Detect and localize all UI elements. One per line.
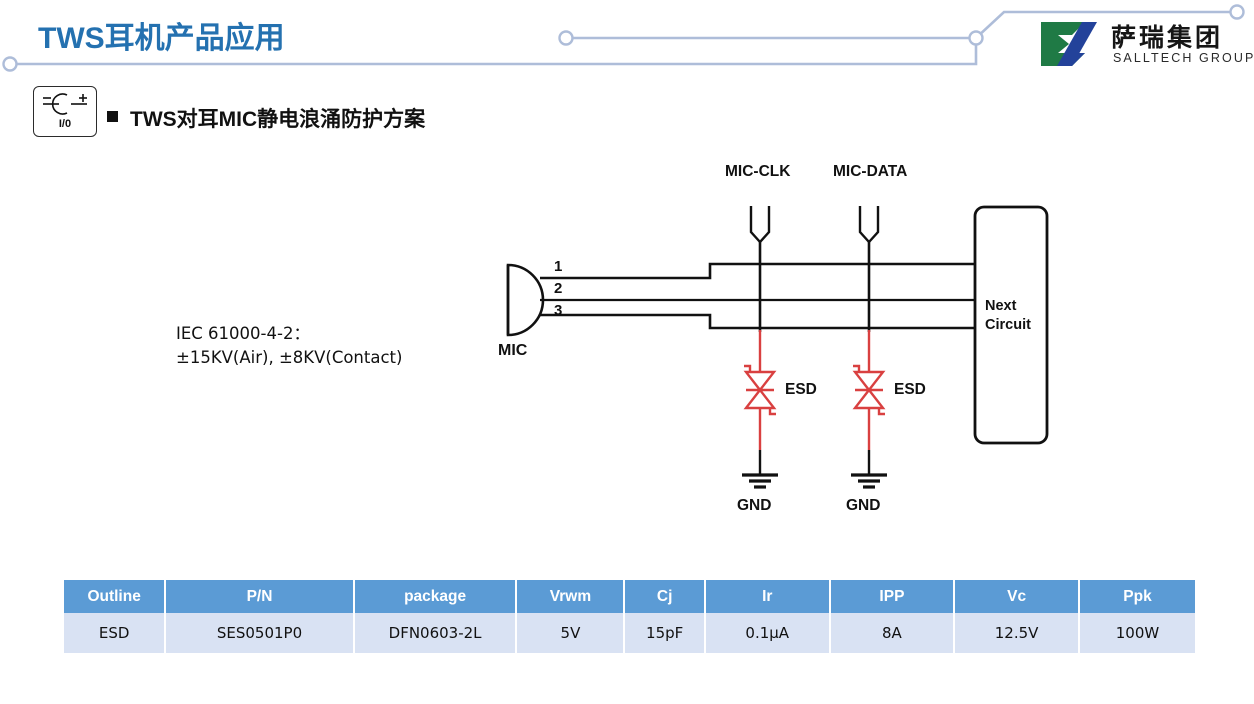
- iec-note-line2: ±15KV(Air), ±8KV(Contact): [176, 346, 402, 370]
- section-heading: TWS对耳MIC静电浪涌防护方案: [130, 103, 425, 133]
- net-label-mic-data: MIC-DATA: [833, 163, 907, 181]
- spec-header-outline: Outline: [64, 580, 164, 613]
- mic-label: MIC: [498, 342, 527, 360]
- next-circuit-label-line2: Circuit: [985, 317, 1031, 333]
- spec-cell-p-n: SES0501P0: [166, 613, 352, 653]
- esd-label-1: ESD: [785, 381, 817, 399]
- mic-pin-3-label: 3: [554, 302, 562, 319]
- terminal-mic-clk-icon: [751, 206, 769, 242]
- spec-cell-ppk: 100W: [1080, 613, 1195, 653]
- spec-cell-cj: 15pF: [625, 613, 703, 653]
- deco-node-mid: [560, 32, 573, 45]
- deco-node-left: [4, 58, 17, 71]
- deco-node-right: [1231, 6, 1244, 19]
- spec-header-ir: Ir: [706, 580, 829, 613]
- spec-cell-vc: 12.5V: [955, 613, 1078, 653]
- spec-header-package: package: [355, 580, 516, 613]
- deco-node-junction: [970, 32, 983, 45]
- esd-diode-2-icon: [853, 366, 885, 414]
- logo-name-en: SALLTECH GROUP: [1113, 51, 1254, 65]
- company-logo: 萨瑞集团 SALLTECH GROUP: [1039, 18, 1251, 76]
- spec-cell-vrwm: 5V: [517, 613, 623, 653]
- spec-cell-ipp: 8A: [831, 613, 954, 653]
- spec-header-ppk: Ppk: [1080, 580, 1195, 613]
- terminal-mic-data-icon: [860, 206, 878, 242]
- slide-canvas: TWS耳机产品应用 萨瑞集团 SALLTECH GROUP I/0 TWS对耳M…: [0, 0, 1254, 704]
- spec-cell-package: DFN0603-2L: [355, 613, 516, 653]
- spec-header-vrwm: Vrwm: [517, 580, 623, 613]
- gnd-symbol-2-icon: [851, 475, 887, 487]
- next-circuit-label-line1: Next: [985, 298, 1016, 314]
- schematic-diagram: MIC 1 2 3 MIC-CLK MIC-DATA ESD ESD GND G…: [480, 150, 1100, 540]
- io-symbol-icon: [34, 87, 96, 121]
- spec-cell-ir: 0.1μA: [706, 613, 829, 653]
- spec-header-p-n: P/N: [166, 580, 352, 613]
- bullet-square-icon: [107, 111, 118, 122]
- spec-table: OutlineP/NpackageVrwmCjIrIPPVcPpk ESDSES…: [62, 580, 1197, 653]
- spec-header-cj: Cj: [625, 580, 703, 613]
- mic-symbol-icon: [508, 265, 543, 335]
- spec-header-ipp: IPP: [831, 580, 954, 613]
- spec-table-head: OutlineP/NpackageVrwmCjIrIPPVcPpk: [64, 580, 1195, 613]
- mic-pin-2-label: 2: [554, 280, 562, 297]
- schematic-svg: [480, 150, 1100, 540]
- spec-table-header-row: OutlineP/NpackageVrwmCjIrIPPVcPpk: [64, 580, 1195, 613]
- table-row: ESDSES0501P0DFN0603-2L5V15pF0.1μA8A12.5V…: [64, 613, 1195, 653]
- logo-name-cn: 萨瑞集团: [1111, 18, 1223, 54]
- spec-table-body: ESDSES0501P0DFN0603-2L5V15pF0.1μA8A12.5V…: [64, 613, 1195, 653]
- gnd-label-1: GND: [737, 497, 771, 515]
- esd-diode-1-icon: [744, 366, 776, 414]
- io-badge-icon: I/0: [33, 86, 97, 137]
- gnd-symbol-1-icon: [742, 475, 778, 487]
- logo-mark-icon: [1039, 20, 1103, 70]
- esd-label-2: ESD: [894, 381, 926, 399]
- io-badge-caption: I/0: [34, 118, 96, 130]
- iec-standard-note: IEC 61000-4-2： ±15KV(Air), ±8KV(Contact): [176, 322, 402, 370]
- net-label-mic-clk: MIC-CLK: [725, 163, 790, 181]
- iec-note-line1: IEC 61000-4-2：: [176, 322, 402, 346]
- gnd-label-2: GND: [846, 497, 880, 515]
- spec-header-vc: Vc: [955, 580, 1078, 613]
- page-title: TWS耳机产品应用: [38, 13, 285, 57]
- mic-pin-1-label: 1: [554, 258, 562, 275]
- spec-cell-outline: ESD: [64, 613, 164, 653]
